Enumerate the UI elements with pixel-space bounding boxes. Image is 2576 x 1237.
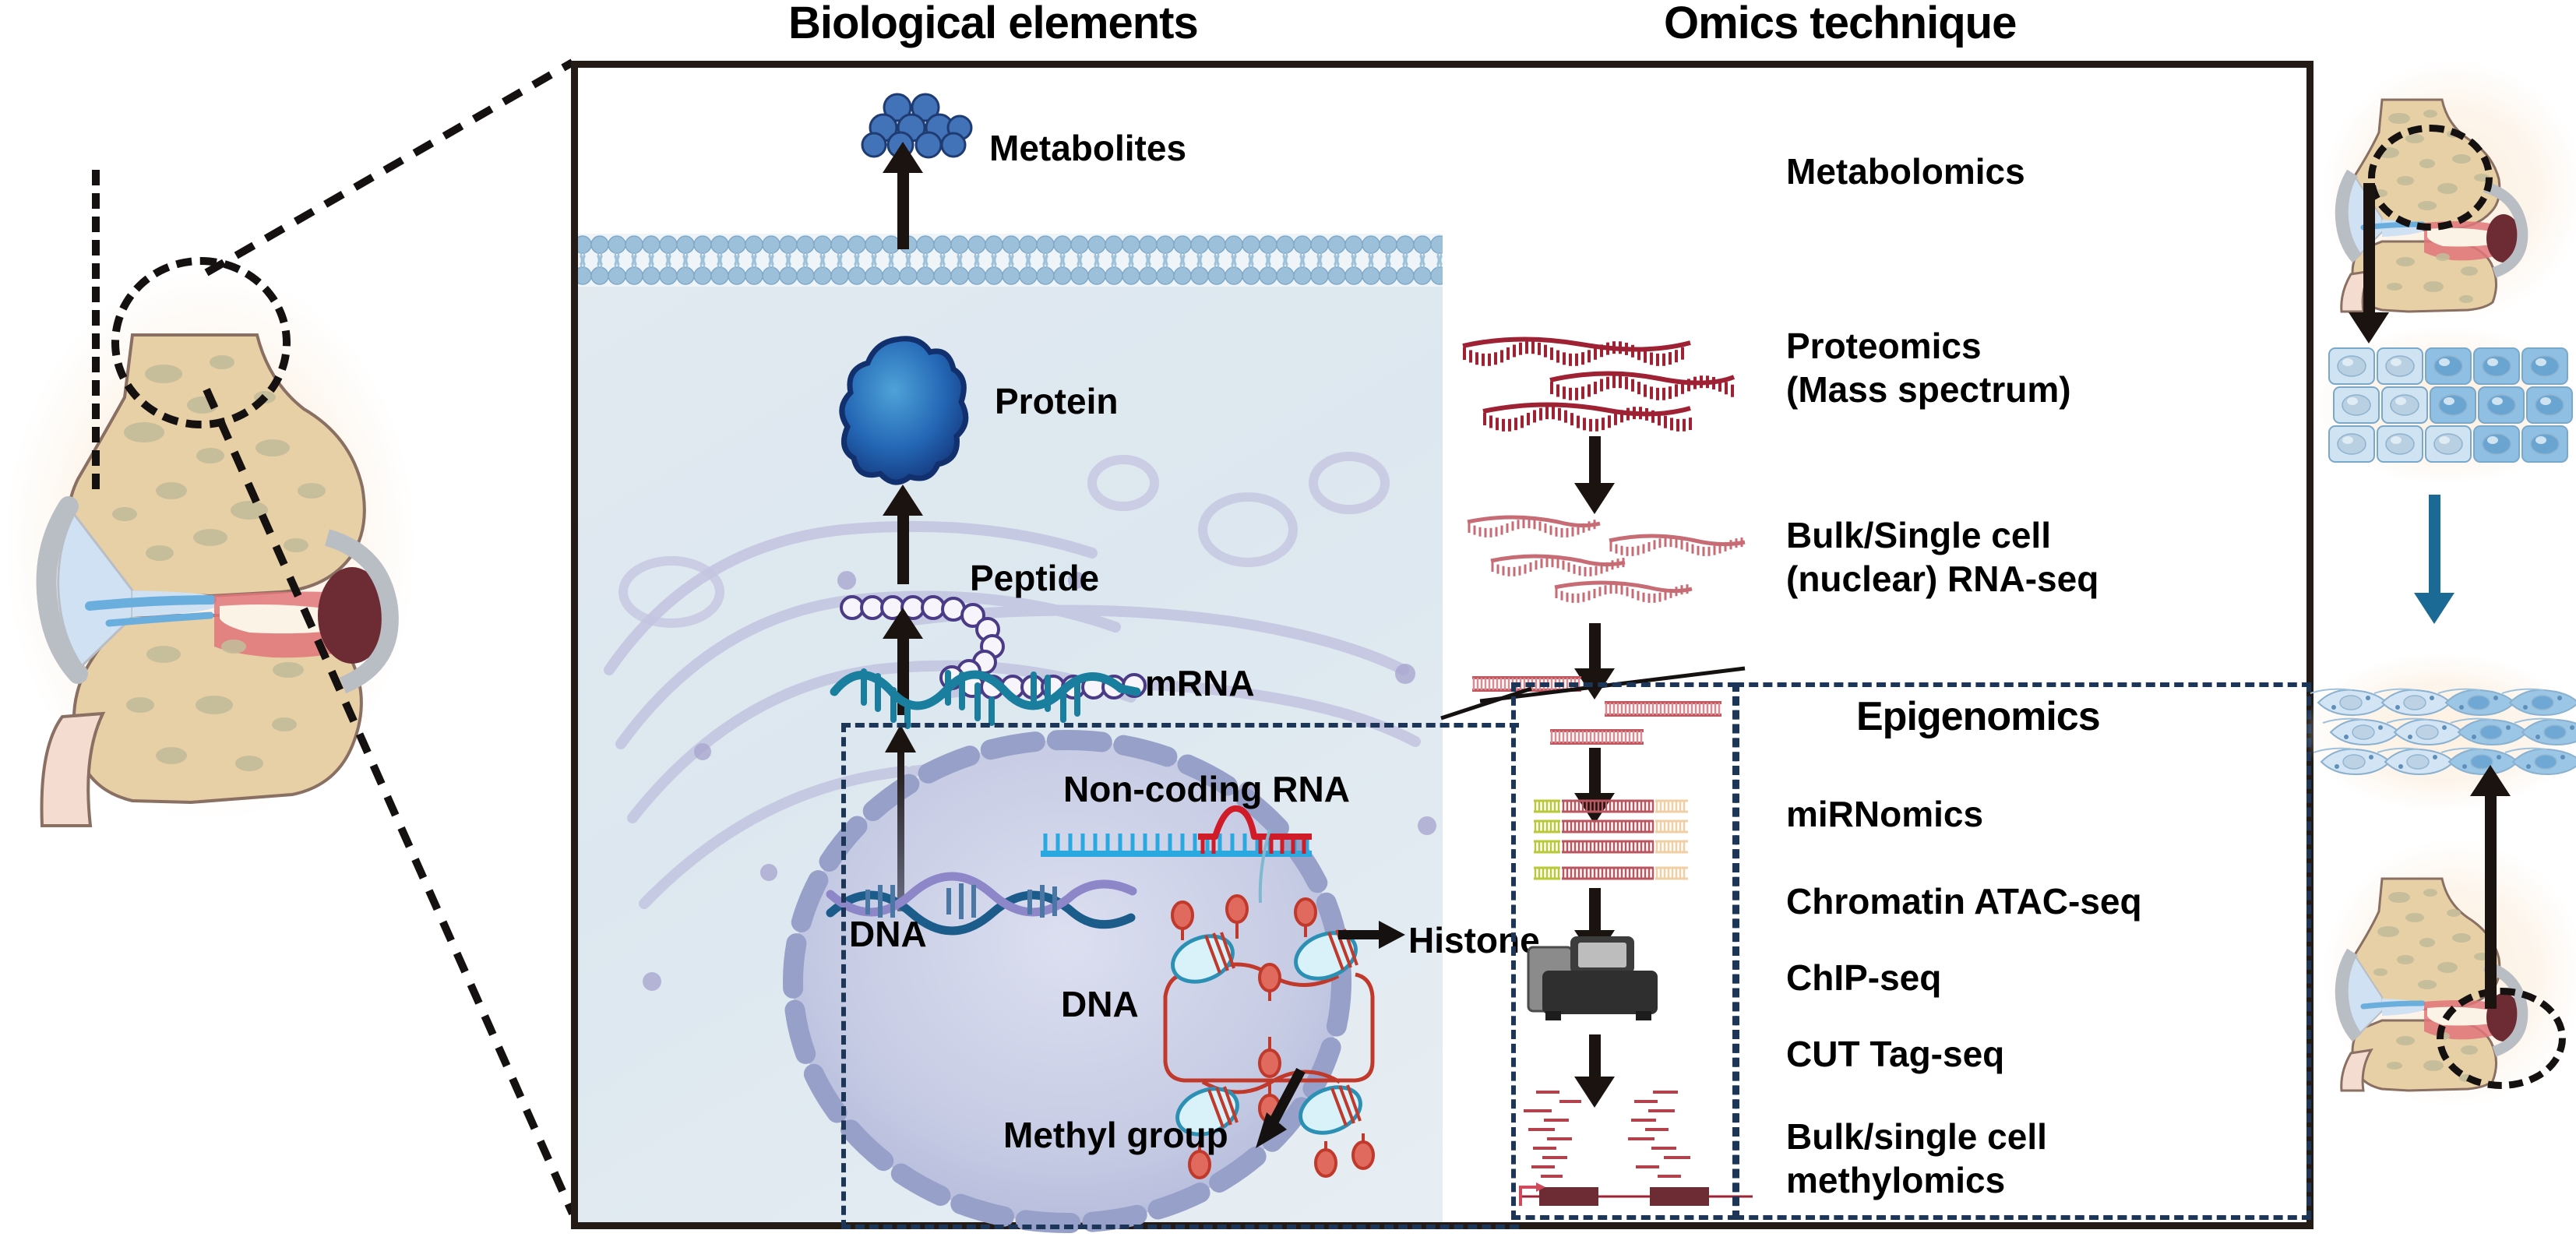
label-methylomics-line2: methylomics	[1786, 1159, 2005, 1202]
label-mirnomics: miRNomics	[1786, 793, 1983, 836]
label-protein: Protein	[995, 380, 1118, 423]
membrane-heads-top	[578, 234, 1443, 287]
label-metabolites: Metabolites	[989, 127, 1186, 170]
arrow-joint-to-chondrocytes	[2363, 183, 2375, 315]
epigenomics-region-workflow	[1511, 682, 1737, 1220]
zoom-connector-top	[183, 47, 588, 280]
label-rnaseq-line1: Bulk/Single cell	[1786, 514, 2051, 557]
mrna-strand-icon	[830, 654, 1157, 724]
header-omics-technique: Omics technique	[1664, 0, 2016, 49]
header-biological-elements: Biological elements	[788, 0, 1198, 49]
arrow-joint-to-fibroblasts	[2485, 787, 2497, 1009]
lesion-callout-circle-bottom-right	[2437, 988, 2566, 1089]
label-chip-seq: ChIP-seq	[1786, 957, 1941, 999]
arrow-proteomics-to-fragments	[1589, 436, 1601, 486]
label-methylomics-line1: Bulk/single cell	[1786, 1115, 2047, 1158]
epigenomics-region-nucleus	[841, 723, 1519, 1229]
arrow-chondrocytes-to-fibroblasts	[2429, 495, 2440, 596]
zoom-connector-bottom	[183, 374, 588, 1231]
protein-blob-icon	[835, 335, 975, 491]
label-epigenomics: Epigenomics	[1856, 693, 2100, 740]
label-metabolomics: Metabolomics	[1786, 150, 2025, 193]
arrow-peptide-to-protein	[897, 506, 909, 584]
reads-ticks-proteomics	[1457, 327, 1737, 452]
chondrocyte-cluster-icon	[2326, 345, 2575, 470]
label-atac-seq: Chromatin ATAC-seq	[1786, 880, 2142, 923]
arrow-protein-to-metabolites	[897, 164, 909, 249]
label-rnaseq-line2: (nuclear) RNA-seq	[1786, 558, 2099, 601]
label-proteomics-line1: Proteomics	[1786, 325, 1982, 368]
fibroblast-layer-icon	[2315, 684, 2576, 785]
label-mrna: mRNA	[1145, 662, 1255, 705]
label-peptide: Peptide	[970, 557, 1099, 600]
label-cut-tag-seq: CUT Tag-seq	[1786, 1033, 2004, 1076]
arrow-fragments-to-duplex	[1589, 623, 1601, 671]
midline-dashed	[92, 170, 100, 489]
label-proteomics-line2: (Mass spectrum)	[1786, 368, 2071, 411]
lesion-callout-circle-top-right	[2368, 125, 2493, 231]
sequencing-reads-icon-fragments	[1457, 506, 1753, 631]
